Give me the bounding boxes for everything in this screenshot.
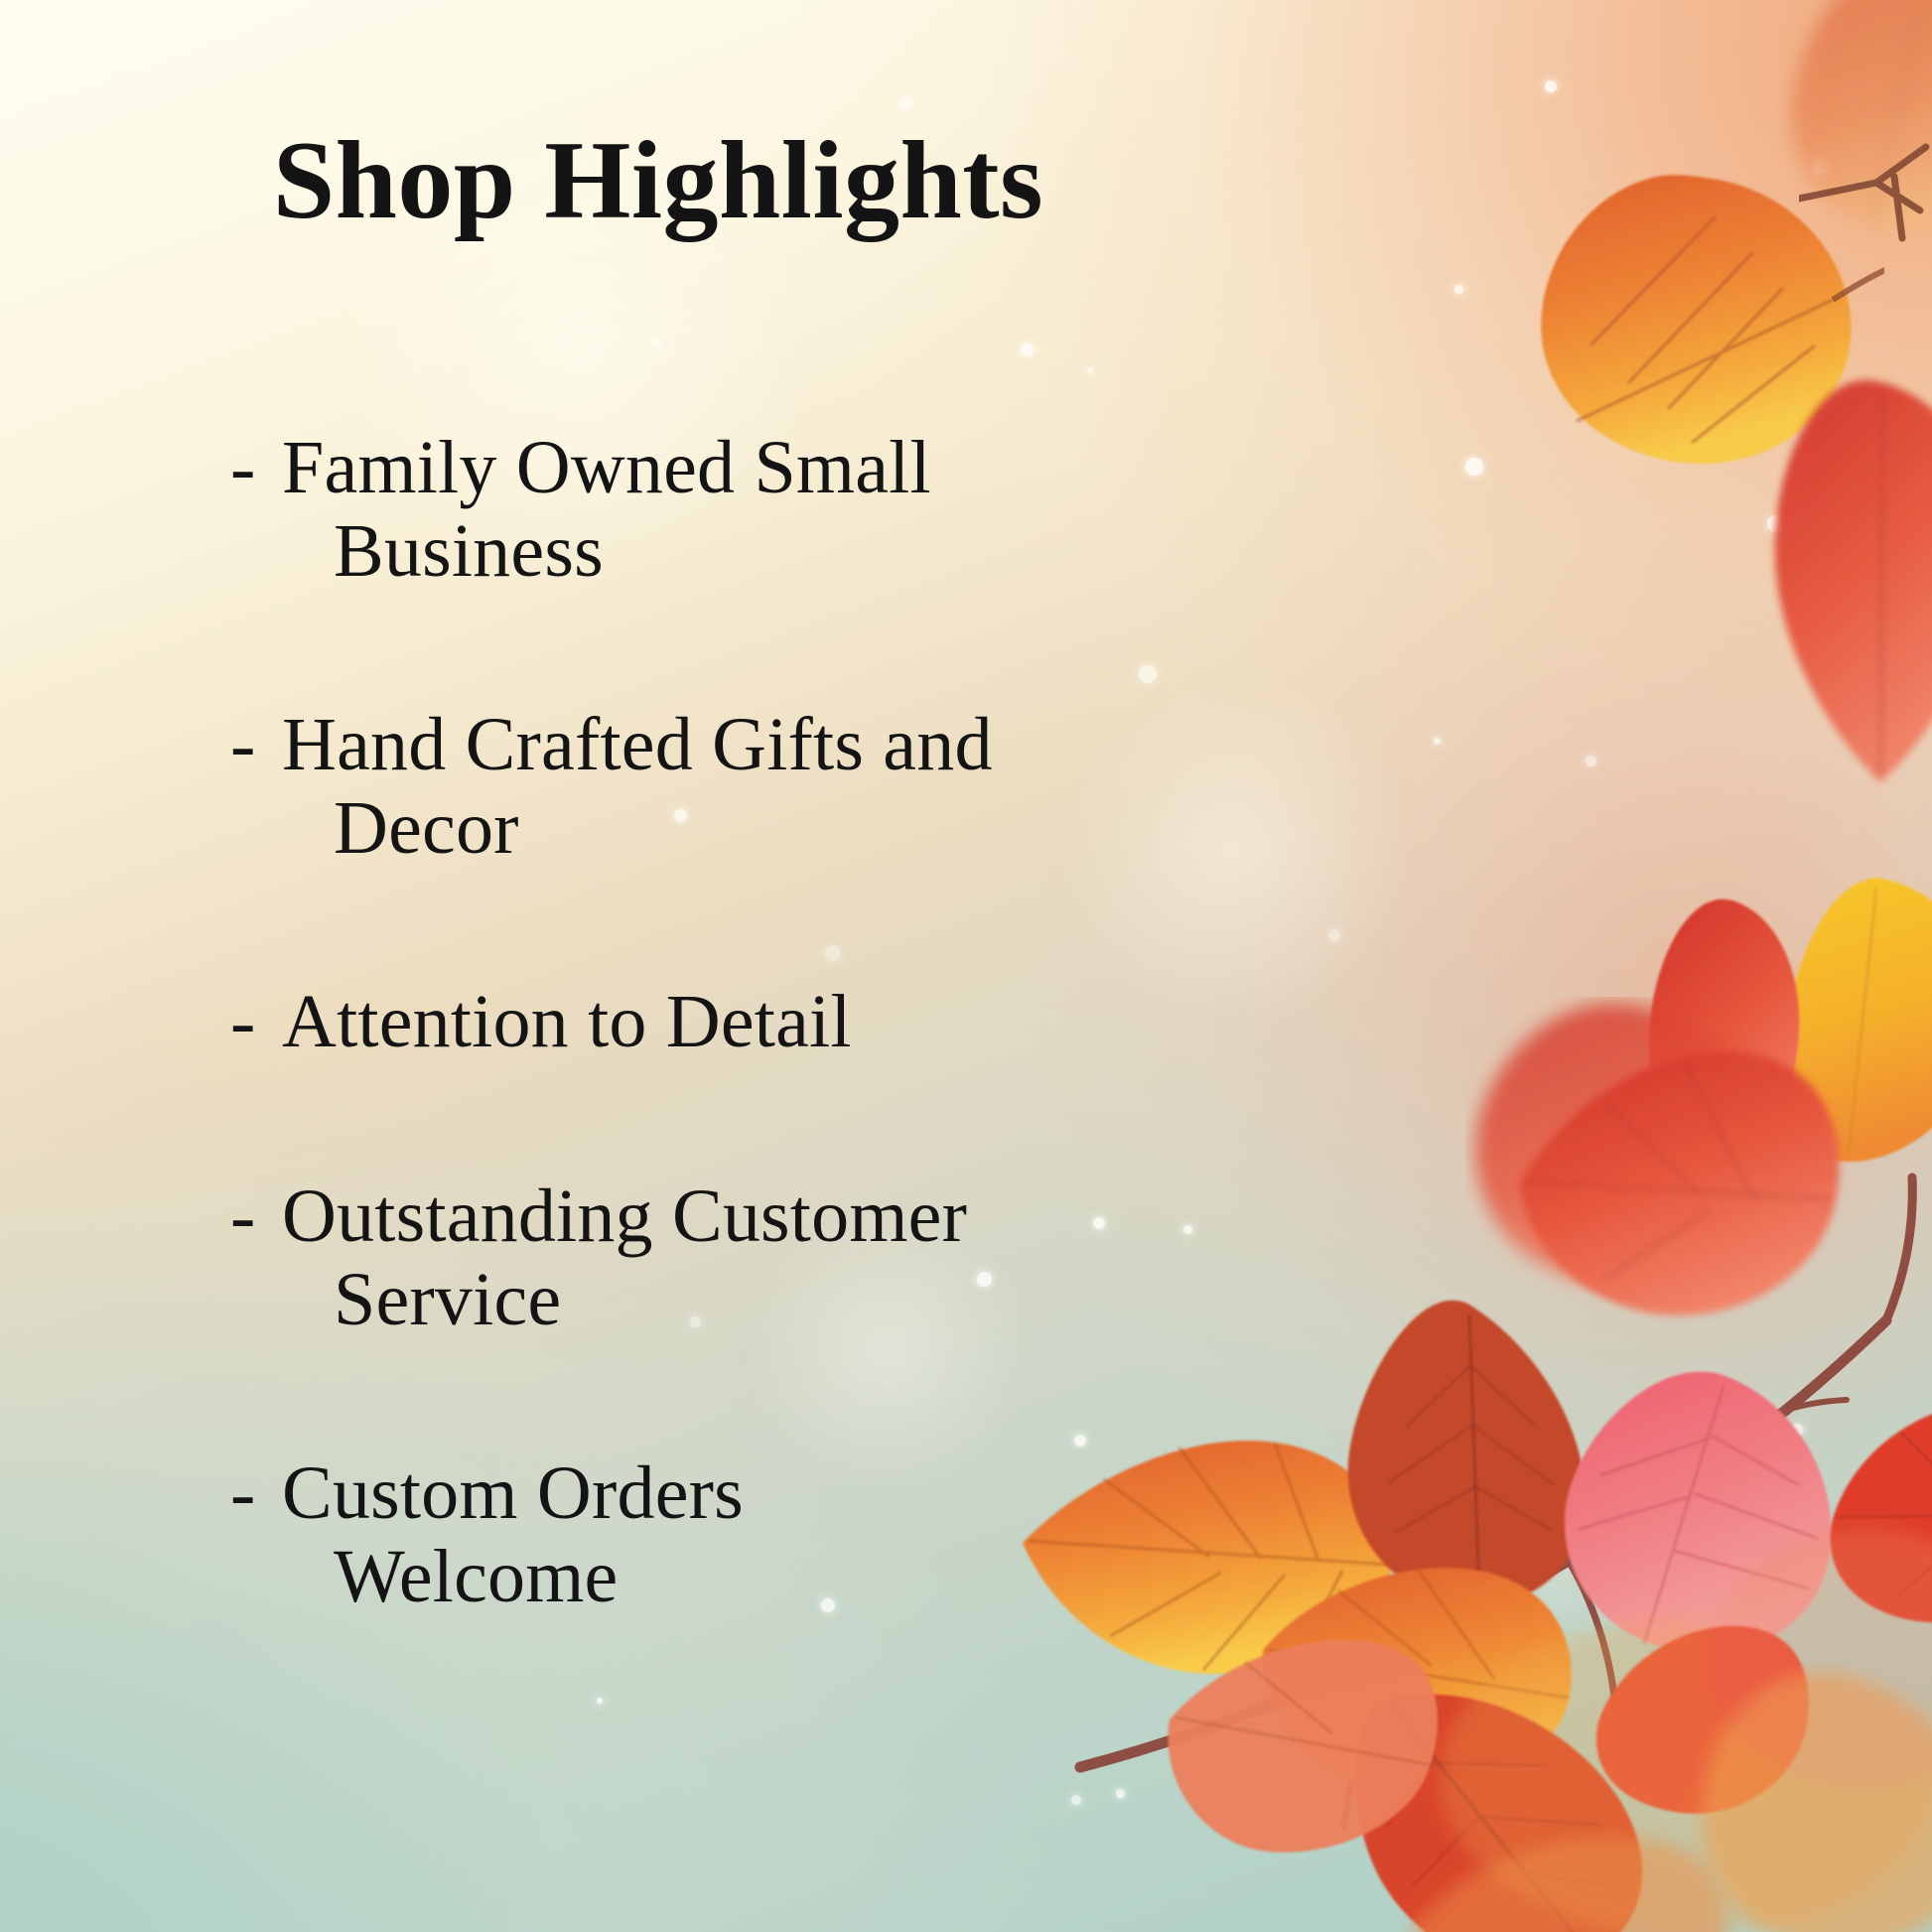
list-item: - Attention to Detail bbox=[230, 981, 1471, 1064]
list-item-line-1: Hand Crafted Gifts and bbox=[282, 704, 1471, 787]
list-item-line-1: Outstanding Customer bbox=[282, 1175, 1471, 1259]
highlights-list: - Family Owned Small Business - Hand Cra… bbox=[230, 427, 1471, 1618]
list-item-line-2: Business bbox=[334, 510, 1471, 594]
list-item-line-1: Family Owned Small bbox=[282, 427, 1471, 510]
list-item-line-1: Attention to Detail bbox=[282, 981, 1471, 1064]
bullet-marker-icon: - bbox=[230, 981, 282, 1064]
poster-canvas: Shop Highlights - Family Owned Small Bus… bbox=[0, 0, 1932, 1932]
list-item: - Hand Crafted Gifts and Decor bbox=[230, 704, 1471, 870]
bullet-marker-icon: - bbox=[230, 1175, 282, 1259]
list-item: - Outstanding Customer Service bbox=[230, 1175, 1471, 1341]
bullet-marker-icon: - bbox=[230, 427, 282, 510]
list-item: - Family Owned Small Business bbox=[230, 427, 1471, 593]
bullet-marker-icon: - bbox=[230, 704, 282, 787]
list-item-line-1: Custom Orders bbox=[282, 1452, 1471, 1536]
list-item-line-2: Welcome bbox=[334, 1536, 1471, 1619]
page-title: Shop Highlights bbox=[0, 125, 1932, 236]
list-item-line-2: Service bbox=[334, 1259, 1471, 1342]
bullet-marker-icon: - bbox=[230, 1452, 282, 1536]
list-item-line-2: Decor bbox=[334, 787, 1471, 871]
poster-content: Shop Highlights - Family Owned Small Bus… bbox=[0, 0, 1932, 1932]
list-item: - Custom Orders Welcome bbox=[230, 1452, 1471, 1618]
